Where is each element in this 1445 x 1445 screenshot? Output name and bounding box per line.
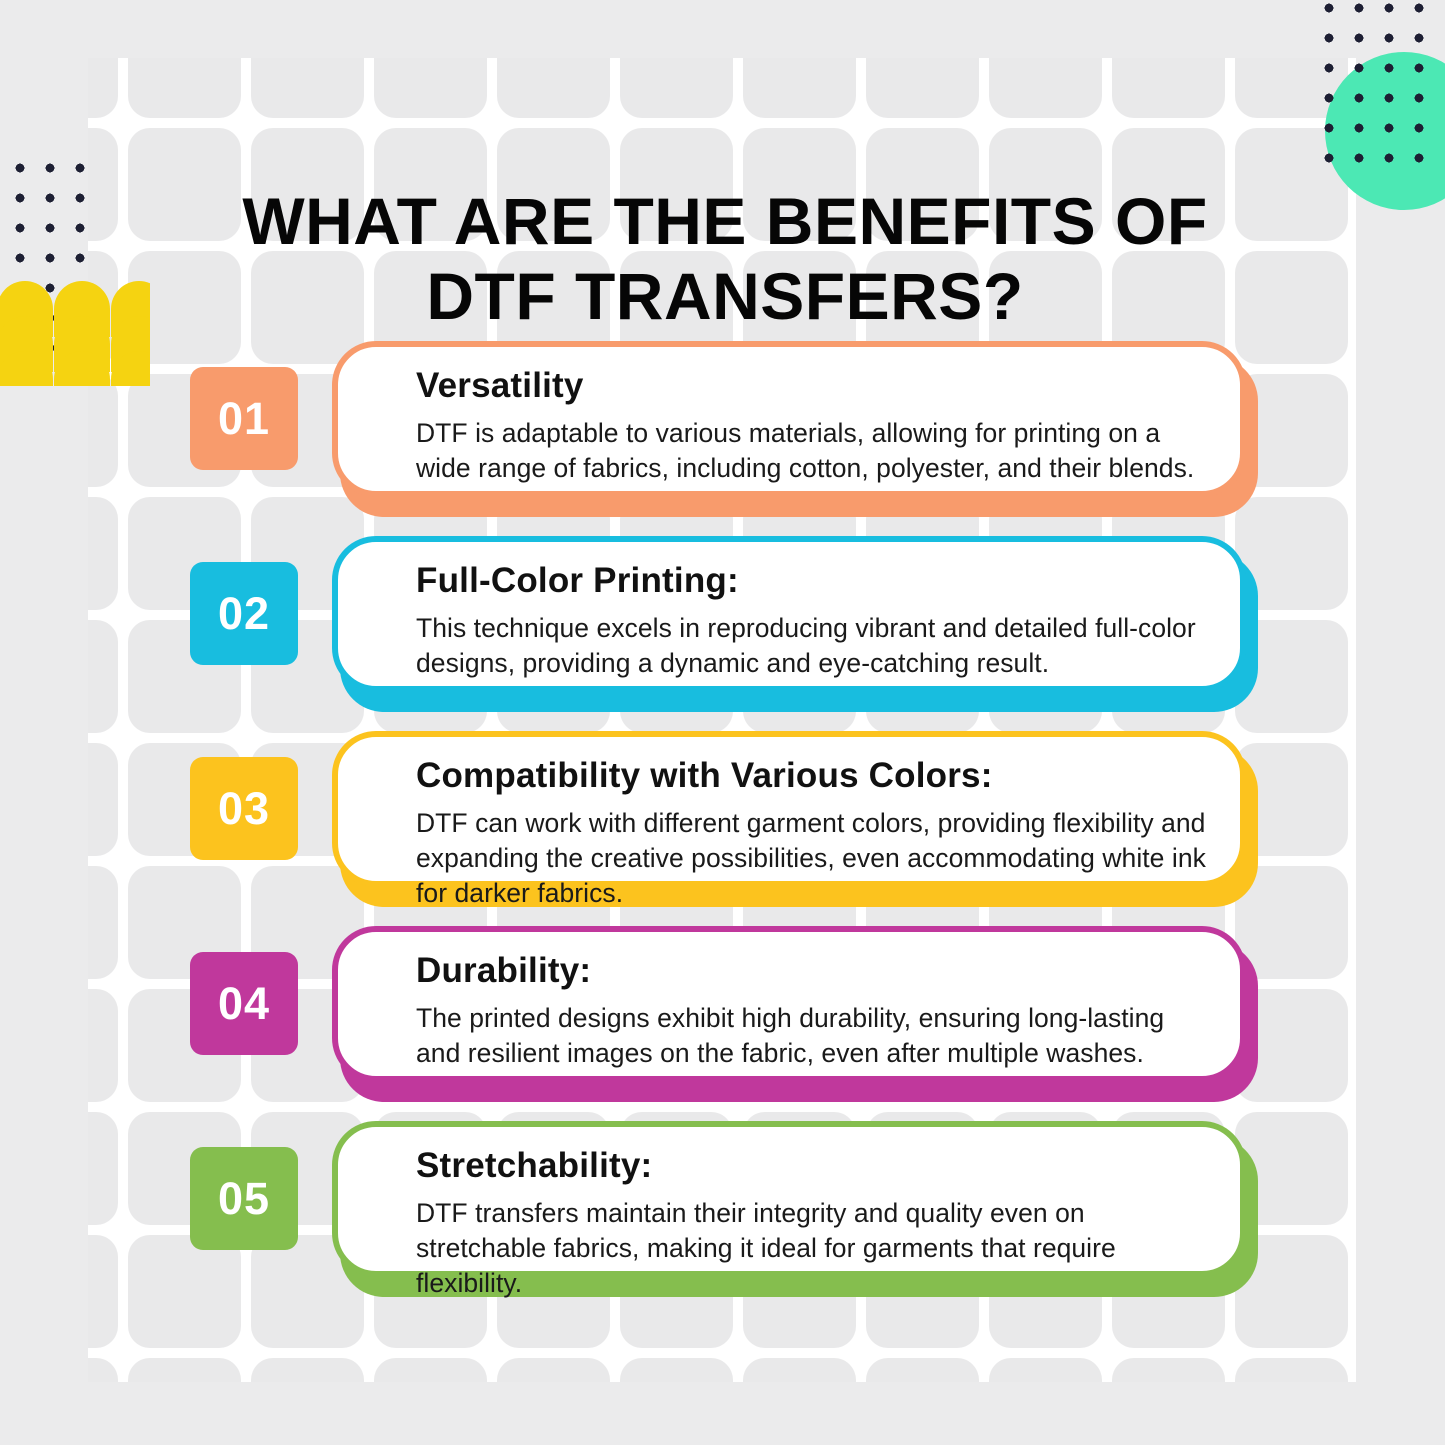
page-title: WHAT ARE THE BENEFITS OF DTF TRANSFERS? (170, 184, 1280, 334)
benefit-number-badge: 04 (190, 952, 298, 1055)
benefit-title: Compatibility with Various Colors: (416, 757, 1206, 796)
benefit-description: The printed designs exhibit high durabil… (416, 1001, 1206, 1071)
benefit-number: 04 (218, 978, 270, 1030)
benefit-number-badge: 05 (190, 1147, 298, 1250)
benefit-row: 01 Versatility DTF is adaptable to vario… (0, 341, 1445, 536)
benefit-card[interactable]: Stretchability: DTF transfers maintain t… (332, 1121, 1258, 1291)
benefit-number-badge: 01 (190, 367, 298, 470)
benefit-number: 01 (218, 393, 270, 445)
dot-grid-top-right (1323, 2, 1433, 164)
benefit-description: DTF can work with different garment colo… (416, 806, 1206, 912)
card-surface: Compatibility with Various Colors: DTF c… (332, 731, 1246, 887)
benefit-card[interactable]: Durability: The printed designs exhibit … (332, 926, 1258, 1096)
card-surface: Versatility DTF is adaptable to various … (332, 341, 1246, 497)
benefit-title: Stretchability: (416, 1147, 1206, 1186)
benefit-number: 02 (218, 588, 270, 640)
benefit-row: 03 Compatibility with Various Colors: DT… (0, 731, 1445, 926)
benefit-title: Durability: (416, 952, 1206, 991)
benefit-number-badge: 03 (190, 757, 298, 860)
benefit-card[interactable]: Versatility DTF is adaptable to various … (332, 341, 1258, 511)
benefit-number: 05 (218, 1173, 270, 1225)
card-surface: Stretchability: DTF transfers maintain t… (332, 1121, 1246, 1277)
benefit-description: DTF is adaptable to various materials, a… (416, 416, 1206, 486)
benefit-title: Full-Color Printing: (416, 562, 1206, 601)
arch-row (0, 281, 150, 316)
benefit-description: This technique excels in reproducing vib… (416, 611, 1206, 681)
benefit-card[interactable]: Compatibility with Various Colors: DTF c… (332, 731, 1258, 901)
benefit-row: 05 Stretchability: DTF transfers maintai… (0, 1121, 1445, 1316)
benefit-card[interactable]: Full-Color Printing: This technique exce… (332, 536, 1258, 706)
benefit-title: Versatility (416, 367, 1206, 406)
benefit-row: 04 Durability: The printed designs exhib… (0, 926, 1445, 1121)
benefit-number-badge: 02 (190, 562, 298, 665)
card-surface: Full-Color Printing: This technique exce… (332, 536, 1246, 692)
benefit-number: 03 (218, 783, 270, 835)
card-surface: Durability: The printed designs exhibit … (332, 926, 1246, 1082)
benefit-description: DTF transfers maintain their integrity a… (416, 1196, 1206, 1302)
benefit-row: 02 Full-Color Printing: This technique e… (0, 536, 1445, 731)
benefits-list: 01 Versatility DTF is adaptable to vario… (0, 341, 1445, 1316)
